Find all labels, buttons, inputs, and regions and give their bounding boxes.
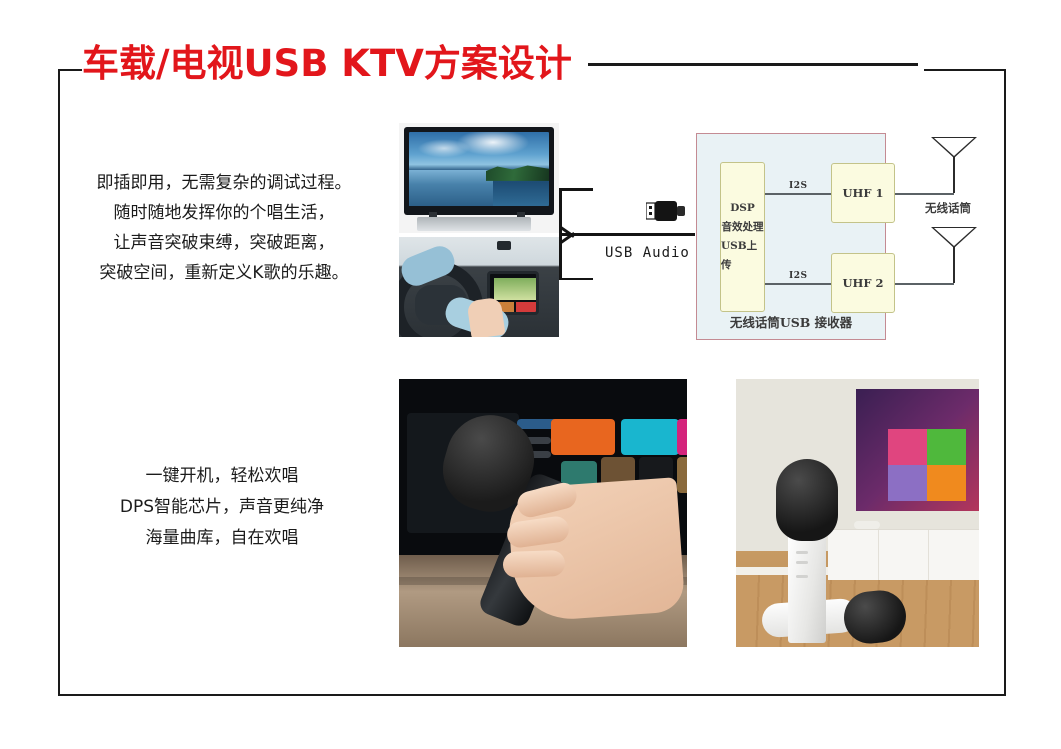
antenna-line-bottom	[895, 283, 954, 285]
cabinet-divider-2	[928, 530, 929, 580]
bracket-bottom-arm	[559, 278, 593, 281]
dsp-line-audio: 音效处理	[722, 218, 764, 237]
tile-plane	[888, 465, 927, 501]
microphone-in-car-photo	[399, 379, 687, 647]
mic-button-1	[796, 551, 808, 554]
wireless-mic-label: 无线话筒	[925, 200, 971, 216]
usb-signal-line	[561, 233, 695, 236]
antenna-bottom-stem	[953, 247, 955, 283]
tv-app-tile-grid	[888, 429, 966, 501]
screen-thumb-b	[516, 302, 538, 314]
intro-line-2: 随时随地发挥你的个唱生活，	[64, 198, 384, 228]
cabinet-divider-1	[878, 530, 879, 580]
slide-title-block: 车载/电视USB KTV方案设计	[82, 38, 924, 90]
wall-mounted-tv	[856, 389, 979, 511]
usb-connector-icon	[646, 200, 688, 222]
screen-card-magenta	[677, 419, 687, 455]
mic-button-2	[796, 561, 808, 564]
i2s-line-bottom	[765, 283, 831, 285]
finger-3	[503, 550, 566, 578]
dsp-block: DSP 音效处理 USB上传	[720, 162, 765, 312]
tv-screen-landscape-image	[409, 132, 549, 206]
uhf1-block: UHF 1	[831, 163, 895, 223]
page-title: 车载/电视USB KTV方案设计	[82, 38, 572, 90]
feature-line-3: 海量曲库，自在欢唱	[62, 523, 382, 554]
dsp-label: DSP	[730, 199, 755, 218]
antenna-top-triangle	[931, 137, 977, 158]
i2s-label-bottom: I2S	[789, 271, 807, 281]
tv-bezel	[404, 127, 554, 215]
feature-paragraph: 一键开机，轻松欢唱 DPS智能芯片，声音更纯净 海量曲库，自在欢唱	[62, 461, 382, 554]
intro-line-3: 让声音突破束缚，突破距离，	[64, 228, 384, 258]
driver-hand	[467, 297, 506, 337]
screen-thumb-top	[494, 278, 538, 300]
diagram-caption: 无线话筒USB 接收器	[696, 312, 886, 331]
tv-stand-base	[417, 217, 531, 231]
bracket-top-arm	[559, 188, 593, 191]
feature-line-1: 一键开机，轻松欢唱	[62, 461, 382, 492]
screen-card-cyan	[621, 419, 679, 455]
tv-product-photo	[399, 123, 559, 233]
mic-button-3	[796, 575, 808, 578]
antenna-line-top	[895, 193, 954, 195]
two-microphones-photo	[736, 379, 979, 647]
screen-card-orange	[551, 419, 615, 455]
uhf2-block: UHF 2	[831, 253, 895, 313]
remote-control	[854, 521, 880, 529]
usb-audio-label: USB Audio	[605, 245, 690, 261]
intro-line-1: 即插即用，无需复杂的调试过程。	[64, 168, 384, 198]
car-rearview-mirror	[497, 241, 511, 250]
i2s-line-top	[765, 193, 831, 195]
car-interior-photo	[399, 237, 559, 337]
microphone-1-body	[788, 531, 826, 643]
intro-line-4: 突破空间，重新定义K歌的乐趣。	[64, 258, 384, 288]
antenna-bottom-triangle	[931, 227, 977, 248]
microphone-1-foam-head	[776, 459, 838, 541]
tile-chat	[927, 429, 966, 465]
screen-thumb-d	[677, 457, 687, 493]
dsp-line-usb: USB上传	[721, 237, 764, 275]
i2s-label-top: I2S	[789, 181, 807, 191]
feature-line-2: DPS智能芯片，声音更纯净	[62, 492, 382, 523]
tv-console-cabinet	[828, 529, 979, 580]
tile-music	[888, 429, 927, 465]
uhf1-label: UHF 1	[842, 186, 883, 200]
tile-eye	[927, 465, 966, 501]
uhf2-label: UHF 2	[842, 276, 883, 290]
antenna-top-stem	[953, 157, 955, 193]
intro-paragraph: 即插即用，无需复杂的调试过程。 随时随地发挥你的个唱生活， 让声音突破束缚，突破…	[64, 168, 384, 288]
title-underline-rule	[588, 63, 918, 66]
